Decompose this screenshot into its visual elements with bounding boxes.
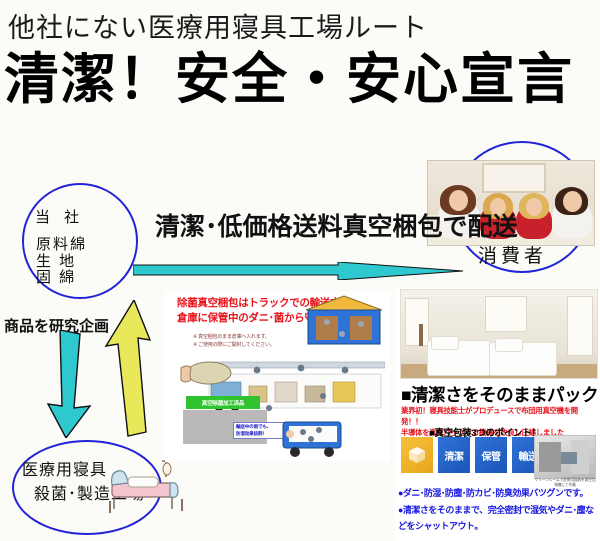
bedroom-photo [400,289,598,379]
cube-icon [408,446,426,464]
header-subtitle: 他社にない医療用寝具工場ルート [8,6,568,45]
center-banner-text: 清潔･低価格送料真空梱包で配送 [155,207,518,243]
factory-label-line1: 医療用寝具 [22,456,107,480]
down-arrow-icon [44,330,100,438]
blue-note-text: 輸送中の雨でも、 防湿効果抜群！ [233,422,285,439]
tile-cube-icon [401,437,433,473]
up-arrow-icon [100,300,156,440]
delivery-arrow-icon [133,262,463,280]
hospital-bed-icon [104,455,188,517]
red-line-1: 業界初！寝具技能士がプロデュースで布団用真空機を開発！！ [401,405,591,427]
center-collage-panel: 除菌真空梱包はトラックでの輸送中･ 倉庫に保管中のダニ･菌から守ります ※ 真空… [165,292,390,462]
company-label-line4: 固 綿 [36,266,76,287]
infographic-page: 他社にない医療用寝具工場ルート 清潔！安全・安心宣言 当 社 原料綿 生 地 固… [0,0,600,541]
clean-pack-panel: ■清潔さをそのままパック 業界初！寝具技能士がプロデュースで布団用真空機を開発！… [395,287,600,541]
green-status-bar: 真空除菌加工済品 [186,396,260,409]
blue-line-2: ●清潔さをそのままで、完全密封で湿気やダニ･塵などをシャットアウト。 [398,502,598,535]
machine-photo [534,435,596,479]
blue-truck-icon [281,414,345,458]
tile-clean: 清潔 [438,437,470,473]
points-tiles: 清潔 保管 輸送 [401,437,544,473]
blue-line-1: ●ダニ･防湿･防塵･防カビ･防臭効果バツグンです。 [398,485,598,502]
tile-storage: 保管 [475,437,507,473]
blue-feature-text: ●ダニ･防湿･防塵･防カビ･防臭効果バツグンです。 ●清潔さをそのままで、完全密… [398,485,598,535]
warehouse-icon [302,294,386,346]
page-title: 清潔！安全・安心宣言 [4,52,524,107]
pack-title: ■清潔さをそのままパック [401,382,598,407]
company-label-line1: 当 社 [35,206,84,227]
vacuum-pack-icon [177,354,235,392]
consumer-label: 消費者 [478,241,547,268]
